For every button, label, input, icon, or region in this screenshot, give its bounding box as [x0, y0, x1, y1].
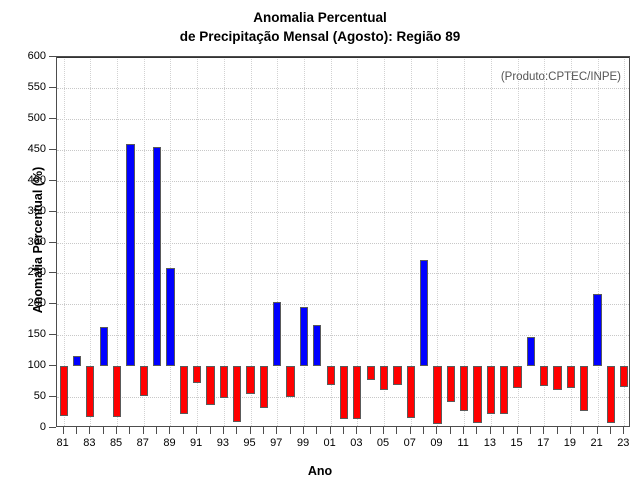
bar-05 — [380, 366, 388, 389]
y-axis-tick — [49, 396, 56, 397]
x-axis-tick — [343, 427, 344, 434]
y-axis-label: 500 — [0, 112, 46, 124]
bar-87 — [140, 366, 148, 396]
x-axis-tick — [476, 427, 477, 434]
x-axis-tick — [210, 427, 211, 434]
x-axis-tick — [557, 427, 558, 434]
y-axis-label: 150 — [0, 328, 46, 340]
bar-13 — [487, 366, 495, 414]
bar-82 — [73, 356, 81, 366]
x-axis-tick — [450, 427, 451, 434]
bar-17 — [540, 366, 548, 386]
x-axis-tick — [383, 427, 384, 434]
x-axis-tick — [169, 427, 170, 434]
bar-16 — [527, 337, 535, 366]
bar-95 — [246, 366, 254, 394]
bar-08 — [420, 260, 428, 366]
x-axis-tick — [436, 427, 437, 434]
bar-98 — [286, 366, 294, 397]
bar-99 — [300, 307, 308, 366]
x-axis-tick — [330, 427, 331, 434]
bars-layer — [57, 57, 629, 426]
bar-03 — [353, 366, 361, 419]
bar-91 — [193, 366, 201, 383]
bar-83 — [86, 366, 94, 417]
x-axis-tick — [196, 427, 197, 434]
x-axis-tick — [597, 427, 598, 434]
bar-90 — [180, 366, 188, 414]
y-axis-tick — [49, 180, 56, 181]
x-axis-tick — [250, 427, 251, 434]
x-axis-tick — [370, 427, 371, 434]
bar-86 — [126, 144, 134, 367]
y-axis-tick — [49, 118, 56, 119]
bar-10 — [447, 366, 455, 402]
x-axis-tick — [316, 427, 317, 434]
bar-92 — [206, 366, 214, 405]
bar-89 — [166, 268, 174, 366]
title-line-2: de Precipitação Mensal (Agosto): Região … — [0, 27, 640, 46]
chart-figure: Anomalia Percentual de Precipitação Mens… — [0, 0, 640, 500]
bar-02 — [340, 366, 348, 419]
y-axis-label: 450 — [0, 143, 46, 155]
x-axis-tick — [276, 427, 277, 434]
x-axis-tick — [490, 427, 491, 434]
bar-20 — [580, 366, 588, 411]
y-axis-label: 250 — [0, 266, 46, 278]
x-axis-tick — [156, 427, 157, 434]
y-axis-tick — [49, 56, 56, 57]
bar-15 — [513, 366, 521, 388]
x-axis-tick — [530, 427, 531, 434]
x-axis-tick — [263, 427, 264, 434]
y-axis-tick — [49, 242, 56, 243]
y-axis-tick — [49, 303, 56, 304]
plot-area: (Produto:CPTEC/INPE) — [56, 56, 630, 427]
bar-21 — [593, 294, 601, 366]
bar-81 — [60, 366, 68, 416]
x-axis-tick — [543, 427, 544, 434]
x-axis-tick — [610, 427, 611, 434]
bar-18 — [553, 366, 561, 389]
y-axis-tick — [49, 211, 56, 212]
bar-22 — [607, 366, 615, 423]
bar-07 — [407, 366, 415, 418]
x-axis-tick — [396, 427, 397, 434]
bar-04 — [367, 366, 375, 380]
x-axis-tick — [623, 427, 624, 434]
bar-23 — [620, 366, 628, 387]
x-axis-tick — [89, 427, 90, 434]
title-line-1: Anomalia Percentual — [0, 8, 640, 27]
y-axis-tick — [49, 365, 56, 366]
bar-97 — [273, 302, 281, 366]
bar-19 — [567, 366, 575, 388]
x-axis-tick — [503, 427, 504, 434]
x-axis-tick — [236, 427, 237, 434]
bar-88 — [153, 147, 161, 367]
y-axis-label: 50 — [0, 390, 46, 402]
bar-06 — [393, 366, 401, 385]
bar-84 — [100, 327, 108, 366]
bar-96 — [260, 366, 268, 408]
x-axis-tick — [570, 427, 571, 434]
x-axis-tick — [583, 427, 584, 434]
x-axis-tick — [410, 427, 411, 434]
x-axis-tick — [356, 427, 357, 434]
y-axis-label: 350 — [0, 205, 46, 217]
x-axis-tick — [143, 427, 144, 434]
x-axis-tick — [290, 427, 291, 434]
y-axis-tick — [49, 87, 56, 88]
bar-94 — [233, 366, 241, 422]
y-axis-label: 400 — [0, 174, 46, 186]
y-axis-tick — [49, 149, 56, 150]
x-axis-tick — [129, 427, 130, 434]
y-axis-label: 600 — [0, 50, 46, 62]
x-axis-label: 23 — [603, 437, 640, 449]
source-note: (Produto:CPTEC/INPE) — [501, 71, 621, 83]
y-axis-tick — [49, 427, 56, 428]
y-axis-label: 100 — [0, 359, 46, 371]
x-axis-tick — [116, 427, 117, 434]
x-axis-tick — [63, 427, 64, 434]
y-axis-label: 300 — [0, 236, 46, 248]
bar-09 — [433, 366, 441, 424]
x-axis-tick — [103, 427, 104, 434]
x-axis-tick — [76, 427, 77, 434]
y-axis-tick — [49, 272, 56, 273]
y-axis-label: 550 — [0, 81, 46, 93]
bar-14 — [500, 366, 508, 414]
x-axis-tick — [183, 427, 184, 434]
x-axis-tick — [423, 427, 424, 434]
bar-93 — [220, 366, 228, 398]
x-axis-tick — [223, 427, 224, 434]
x-axis-tick — [303, 427, 304, 434]
y-axis-label: 0 — [0, 421, 46, 433]
x-axis-title: Ano — [0, 464, 640, 478]
bar-12 — [473, 366, 481, 423]
y-axis-tick — [49, 334, 56, 335]
y-axis-label: 200 — [0, 297, 46, 309]
bar-01 — [327, 366, 335, 385]
page-title: Anomalia Percentual de Precipitação Mens… — [0, 8, 640, 46]
x-axis-tick — [463, 427, 464, 434]
x-axis-tick — [517, 427, 518, 434]
bar-11 — [460, 366, 468, 411]
bar-00 — [313, 325, 321, 366]
bar-85 — [113, 366, 121, 417]
